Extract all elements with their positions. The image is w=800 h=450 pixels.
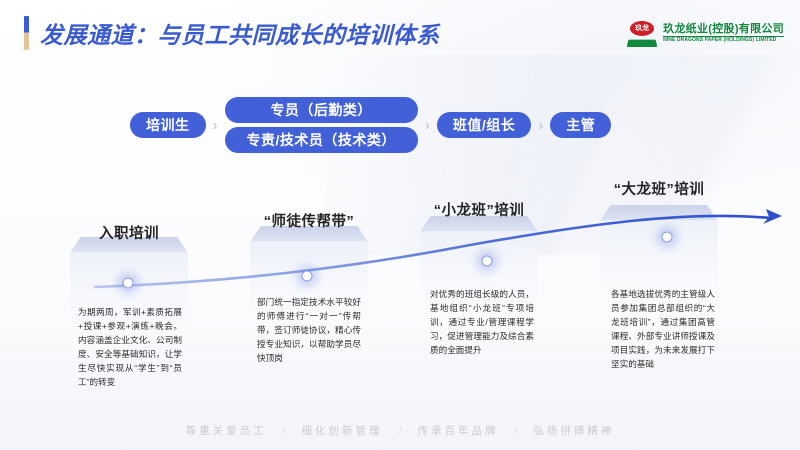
footer-item-1: 尊重关爱员工 xyxy=(186,423,267,438)
stage-description-4: 各基地选拔优秀的主管级人员参加集团总部组织的“大龙班培训”，通过集团高管课程、外… xyxy=(611,288,715,372)
title-accent-bar xyxy=(24,16,29,50)
pipeline-pill-supervisor[interactable]: 主管 xyxy=(550,112,611,138)
platform-front-face xyxy=(600,220,718,298)
pipeline-pill-group-specialist: 专员（后勤类） 专责/技术员（技术类） xyxy=(225,97,418,153)
chevron-right-icon-3: › xyxy=(538,117,543,134)
footer-separator-1: / xyxy=(283,425,286,437)
footer-item-3: 传承百年品牌 xyxy=(417,423,498,438)
footer-item-2: 细化创新管理 xyxy=(302,423,383,438)
footer-separator-3: / xyxy=(514,425,517,437)
logo-company-cn: 玖龙纸业(控股)有限公司 xyxy=(663,23,784,35)
career-pipeline: 培训生 › 专员（后勤类） 专责/技术员（技术类） › 班值/组长 › 主管 xyxy=(130,97,611,153)
stage-label-4: “大龙班”培训 xyxy=(579,178,739,199)
footer-slogans: 尊重关爱员工 / 细化创新管理 / 传承百年品牌 / 弘扬拼搏精神 xyxy=(0,423,800,438)
stage-label-1: 入职培训 xyxy=(49,222,209,243)
logo-company-en: NINE DRAGONS PAPER (HOLDINGS) LIMITED xyxy=(663,36,784,44)
pipeline-pill-specialist-technical[interactable]: 专责/技术员（技术类） xyxy=(225,127,418,153)
stage-description-3: 对优秀的班组长级的人员，基地组织“小龙班”专项培训，通过专业/管理课程学习，促进… xyxy=(430,288,534,358)
chevron-right-icon-2: › xyxy=(425,117,430,134)
pipeline-pill-trainee[interactable]: 培训生 xyxy=(130,112,206,138)
slide-canvas: 发展通道：与员工共同成长的培训体系 玖龙 玖龙纸业(控股)有限公司 NINE D… xyxy=(0,0,800,450)
pipeline-pill-team-leader[interactable]: 班值/组长 xyxy=(437,112,531,138)
page-title: 发展通道：与员工共同成长的培训体系 xyxy=(40,16,440,50)
logo-red-oval-icon: 玖龙 xyxy=(630,21,654,36)
stage-platform-4 xyxy=(600,205,718,297)
milestone-dot-2 xyxy=(302,271,313,282)
stage-label-2: “师徒传帮带” xyxy=(229,210,389,231)
milestone-dot-4 xyxy=(662,232,673,243)
chevron-right-icon-1: › xyxy=(213,117,218,134)
footer-separator-2: / xyxy=(399,425,402,437)
milestone-dot-3 xyxy=(482,256,493,267)
stage-label-3: “小龙班”培训 xyxy=(399,199,559,220)
platform-top-face xyxy=(600,205,718,221)
logo-text: 玖龙纸业(控股)有限公司 NINE DRAGONS PAPER (HOLDING… xyxy=(663,23,784,44)
milestone-dot-1 xyxy=(123,278,134,289)
stage-description-2: 部门统一指定技术水平较好的师傅进行“一对一”传帮带，签订师徒协议，精心传授专业知… xyxy=(257,296,361,366)
footer-item-4: 弘扬拼搏精神 xyxy=(533,423,614,438)
stage-description-1: 为期两周，军训+素质拓展+授课+参观+演练+晚会。内容涵盖企业文化、公司制度、安… xyxy=(78,306,182,390)
company-logo: 玖龙 玖龙纸业(控股)有限公司 NINE DRAGONS PAPER (HOLD… xyxy=(627,18,784,48)
logo-mark-icon: 玖龙 xyxy=(627,18,657,48)
pipeline-pill-specialist-logistics[interactable]: 专员（后勤类） xyxy=(225,97,418,123)
